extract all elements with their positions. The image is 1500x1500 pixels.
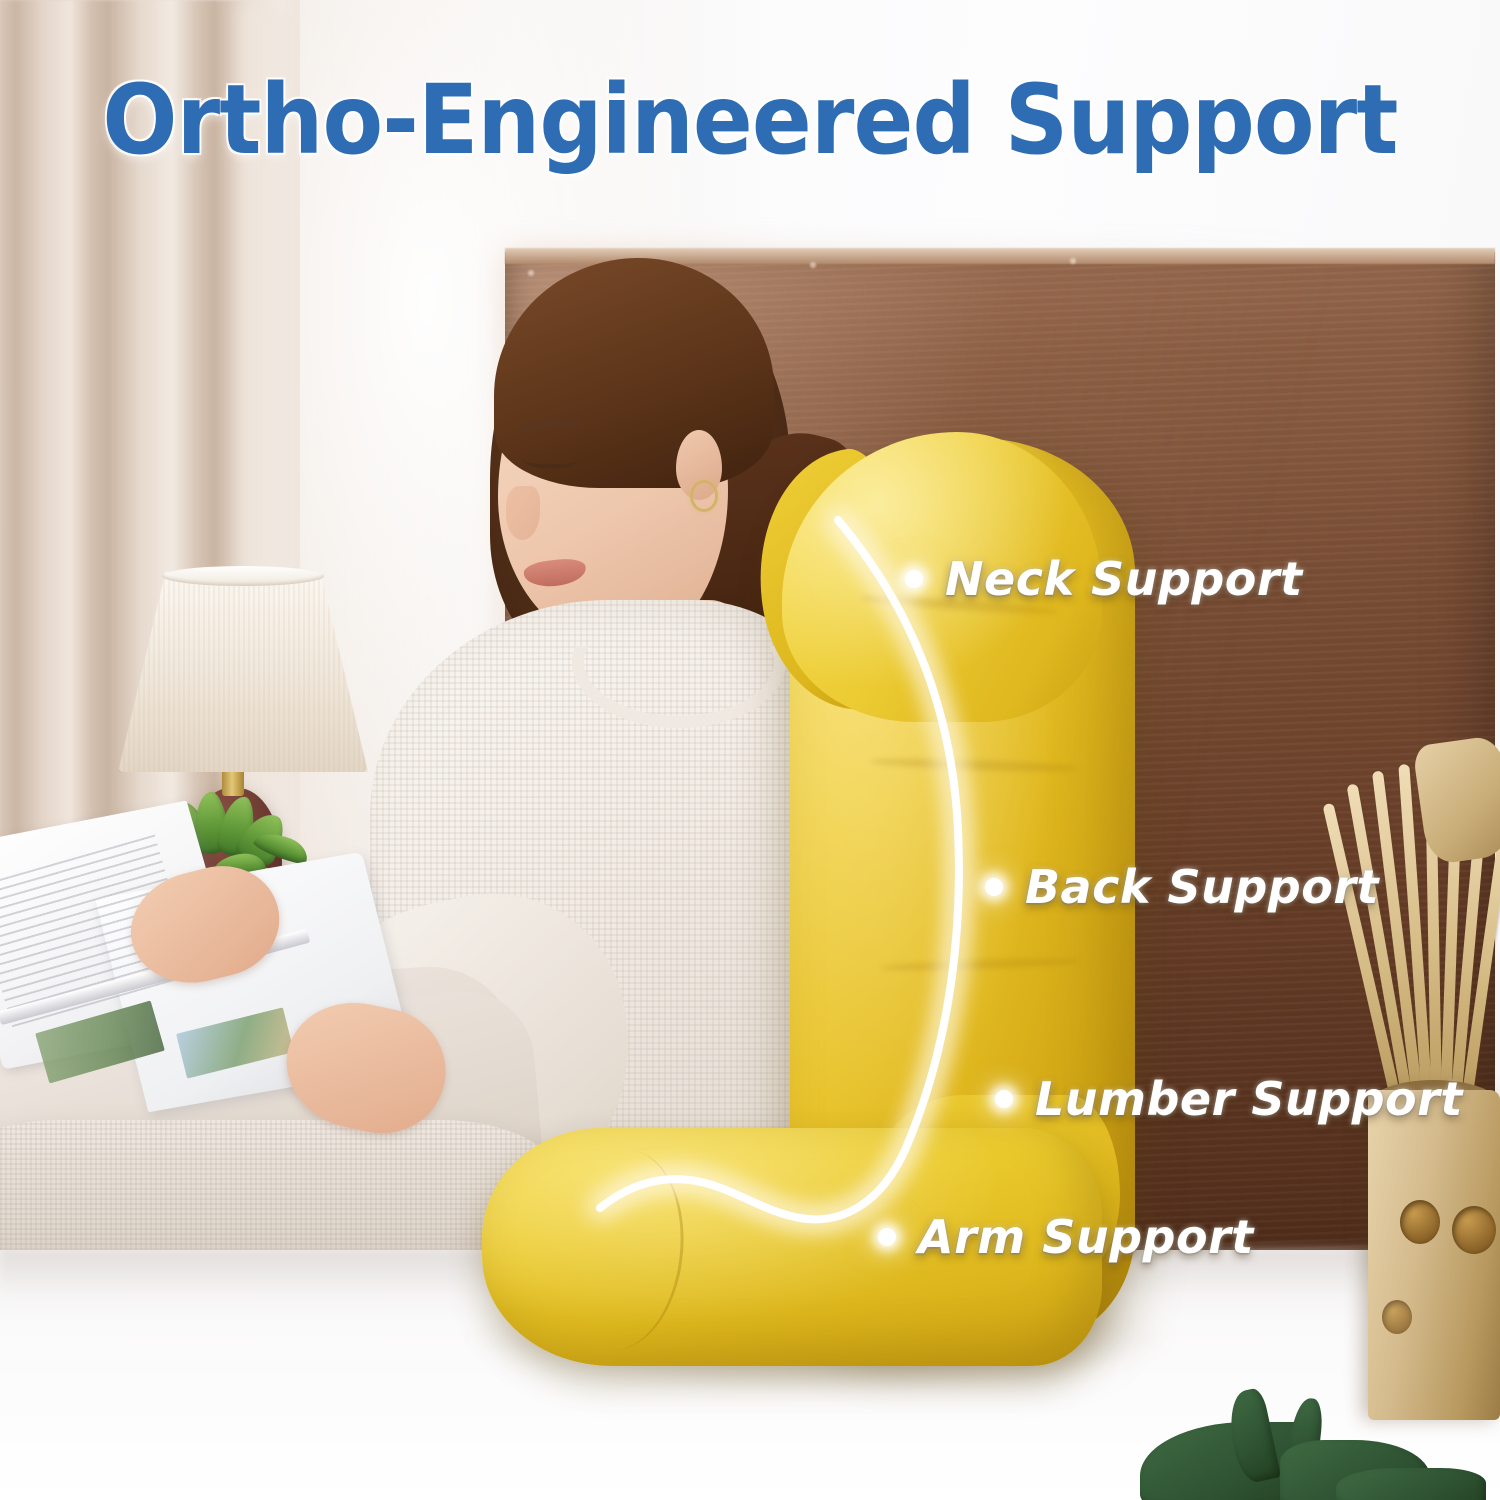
callout-back-support: Back Support — [985, 860, 1379, 914]
vase-hole — [1452, 1206, 1496, 1254]
monstera-plant — [1140, 1378, 1500, 1500]
callout-label: Arm Support — [918, 1210, 1254, 1264]
monstera-leaf — [1336, 1468, 1486, 1500]
callout-neck-support: Neck Support — [905, 552, 1303, 606]
callout-dot-icon — [905, 570, 923, 588]
wood-vase — [1368, 1090, 1500, 1420]
eye — [524, 448, 578, 468]
earring — [690, 480, 718, 512]
callout-dot-icon — [878, 1228, 896, 1246]
callout-dot-icon — [995, 1090, 1013, 1108]
callout-label: Neck Support — [945, 552, 1303, 606]
vase-hole — [1382, 1300, 1412, 1334]
vase-hole — [1400, 1200, 1440, 1244]
page-title: Ortho-Engineered Support — [60, 64, 1440, 176]
product-lifestyle-image: Ortho-Engineered Support Neck Support Ba… — [0, 0, 1500, 1500]
callout-arm-support: Arm Support — [878, 1210, 1254, 1264]
callout-label: Lumber Support — [1035, 1072, 1463, 1126]
callout-lumber-support: Lumber Support — [995, 1072, 1463, 1126]
callout-label: Back Support — [1025, 860, 1379, 914]
callout-dot-icon — [985, 878, 1003, 896]
